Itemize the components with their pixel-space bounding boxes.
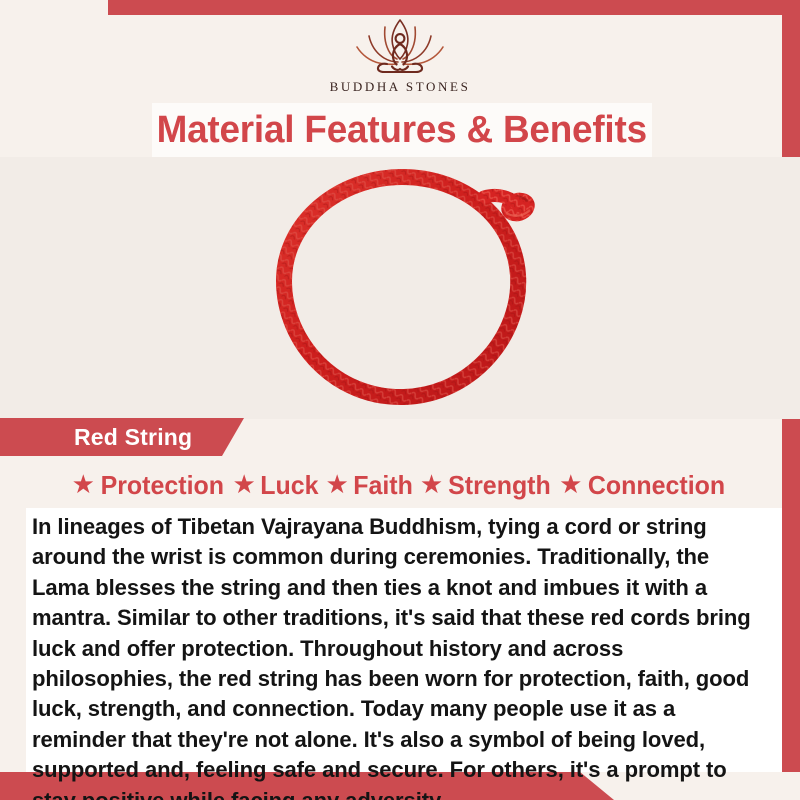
feature-item-luck: ★ Luck xyxy=(232,470,319,501)
star-icon: ★ xyxy=(232,471,255,497)
feature-label: Strength xyxy=(448,470,551,501)
material-name-label: Red String xyxy=(74,424,192,451)
brand-name: BUDDHA STONES xyxy=(330,79,471,95)
feature-label: Faith xyxy=(353,470,413,501)
product-image-stage xyxy=(0,157,800,419)
star-icon: ★ xyxy=(559,471,582,497)
infographic-canvas: BUDDHA STONES Material Features & Benefi… xyxy=(0,0,800,800)
description-panel: In lineages of Tibetan Vajrayana Buddhis… xyxy=(26,508,782,772)
feature-label: Connection xyxy=(588,470,725,501)
decorative-top-bar xyxy=(108,0,800,15)
feature-item-faith: ★ Faith xyxy=(325,470,413,501)
brand-logo: BUDDHA STONES xyxy=(0,14,800,102)
red-string-bracelet-image xyxy=(232,163,572,415)
material-name-ribbon: Red String xyxy=(0,418,244,456)
title-band: Material Features & Benefits xyxy=(152,103,652,157)
star-icon: ★ xyxy=(72,471,95,497)
lotus-meditation-icon xyxy=(344,14,456,76)
feature-item-protection: ★ Protection xyxy=(72,470,227,501)
feature-item-connection: ★ Connection xyxy=(559,470,728,501)
description-text: In lineages of Tibetan Vajrayana Buddhis… xyxy=(32,512,759,800)
page-title: Material Features & Benefits xyxy=(157,109,647,152)
feature-label: Protection xyxy=(100,470,223,501)
feature-item-strength: ★ Strength xyxy=(420,470,553,501)
feature-label: Luck xyxy=(260,470,318,501)
feature-list: ★ Protection ★ Luck ★ Faith ★ Strength ★… xyxy=(0,462,800,508)
star-icon: ★ xyxy=(420,471,443,497)
star-icon: ★ xyxy=(325,471,348,497)
